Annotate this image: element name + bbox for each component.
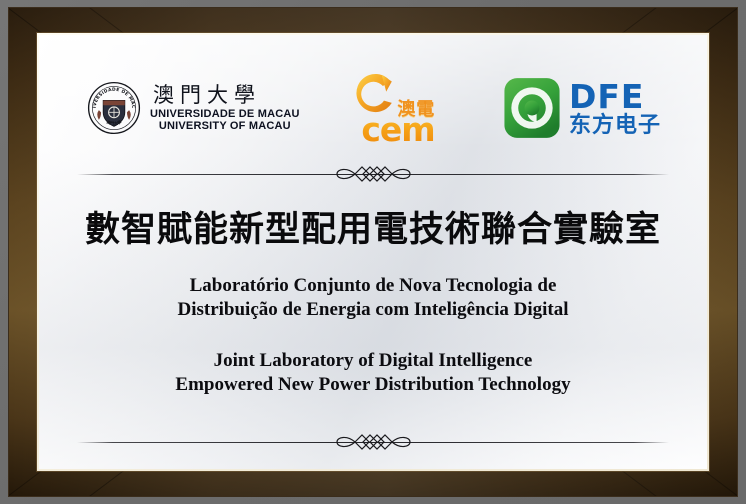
um-english-name: UNIVERSITY OF MACAU bbox=[150, 121, 300, 132]
english-line-2: Empowered New Power Distribution Technol… bbox=[175, 373, 570, 397]
portuguese-line-2: Distribuição de Energia com Inteligência… bbox=[177, 298, 568, 322]
um-chinese-name: 澳門大學 bbox=[150, 85, 300, 106]
plaque-face: UNIVERSIDADE DE MACAU bbox=[39, 35, 707, 469]
logo-row: UNIVERSIDADE DE MACAU bbox=[69, 55, 677, 157]
plaque-text-block: 數智賦能新型配用電技術聯合實驗室 Laboratório Conjunto de… bbox=[69, 185, 677, 431]
portuguese-line-1: Laboratório Conjunto de Nova Tecnologia … bbox=[177, 274, 568, 298]
plaque-title-chinese: 數智賦能新型配用電技術聯合實驗室 bbox=[85, 201, 661, 252]
cem-wordmark: cem bbox=[361, 113, 434, 146]
divider-bottom bbox=[77, 431, 669, 453]
plaque-title-english: Joint Laboratory of Digital Intelligence… bbox=[175, 349, 570, 398]
logo-dfe: DFE 东方电子 bbox=[503, 77, 661, 139]
logo-university-of-macau: UNIVERSIDADE DE MACAU bbox=[87, 81, 300, 135]
plaque-bevel: UNIVERSIDADE DE MACAU bbox=[37, 33, 709, 471]
divider-top bbox=[77, 163, 669, 185]
um-text-block: 澳門大學 UNIVERSIDADE DE MACAU UNIVERSITY OF… bbox=[150, 85, 300, 132]
logo-cem: 澳電 cem bbox=[345, 67, 457, 149]
photo-backdrop: UNIVERSIDADE DE MACAU bbox=[0, 0, 746, 504]
um-portuguese-name: UNIVERSIDADE DE MACAU bbox=[150, 109, 300, 120]
dfe-chinese-name: 东方电子 bbox=[569, 115, 661, 137]
um-crest-icon: UNIVERSIDADE DE MACAU bbox=[87, 81, 141, 135]
dfe-text-block: DFE 东方电子 bbox=[569, 80, 661, 137]
dfe-mark-icon bbox=[503, 77, 561, 139]
dfe-english-name: DFE bbox=[569, 80, 661, 113]
diamond-knot-ornament-icon bbox=[330, 431, 416, 453]
diamond-knot-ornament-icon bbox=[330, 163, 416, 185]
plaque-title-portuguese: Laboratório Conjunto de Nova Tecnologia … bbox=[177, 274, 568, 323]
english-line-1: Joint Laboratory of Digital Intelligence bbox=[175, 349, 570, 373]
